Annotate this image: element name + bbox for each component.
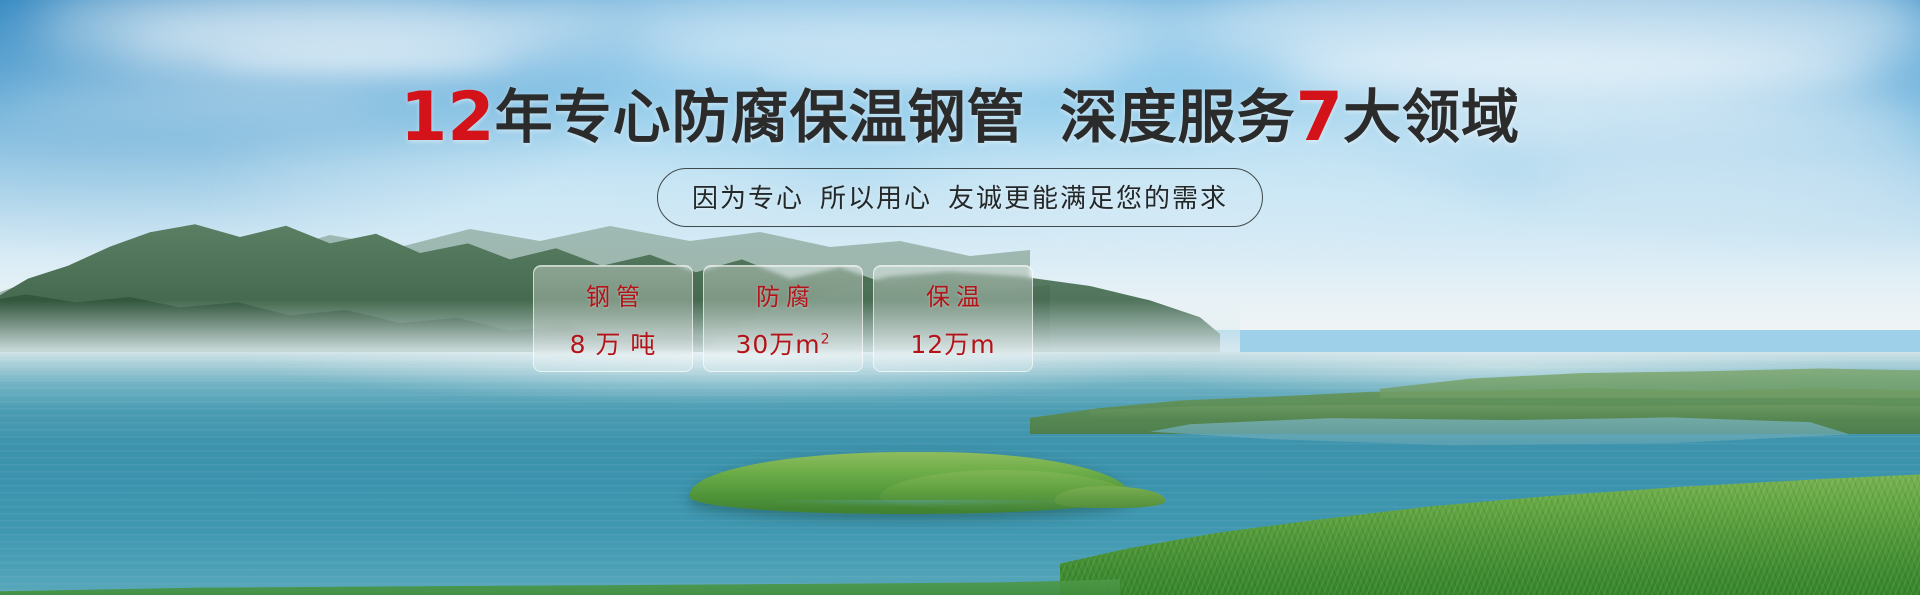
subtitle-segment-1: 因为专心 xyxy=(692,184,804,214)
fields-number: 7 xyxy=(1296,78,1343,157)
headline-part-3: 大领域 xyxy=(1343,83,1520,151)
stat-card-value: 12万m xyxy=(910,325,995,361)
cloud xyxy=(640,30,1160,64)
subtitle-segment-3: 友诚更能满足您的需求 xyxy=(948,184,1228,214)
stat-card-title: 防腐 xyxy=(750,277,816,312)
headline-part-1: 年专心防腐保温钢管 xyxy=(495,83,1026,151)
stat-card-group: 钢管 8 万 吨 防腐 30万m2 保温 12万m xyxy=(533,265,1033,372)
cloud xyxy=(210,52,510,70)
stat-card-anticorrosion: 防腐 30万m2 xyxy=(703,265,863,372)
stat-card-title: 钢管 xyxy=(580,277,646,312)
hero-banner: 12年专心防腐保温钢管深度服务7大领域 因为专心所以用心友诚更能满足您的需求 钢… xyxy=(0,0,1920,595)
years-number: 12 xyxy=(400,78,495,157)
stat-value-text: 12万m xyxy=(910,330,995,359)
subtitle-segment-2: 所以用心 xyxy=(820,184,932,214)
stat-card-title: 保温 xyxy=(920,277,986,312)
headline-part-2: 深度服务 xyxy=(1060,83,1296,151)
island-shoreline xyxy=(700,500,1130,518)
banner-headline: 12年专心防腐保温钢管深度服务7大领域 xyxy=(0,84,1920,152)
stat-card-value: 8 万 吨 xyxy=(570,325,657,361)
stat-value-text: 8 万 吨 xyxy=(570,330,657,359)
stat-value-text: 30万m xyxy=(735,330,820,359)
banner-subtitle-pill: 因为专心所以用心友诚更能满足您的需求 xyxy=(657,168,1263,227)
stat-value-superscript: 2 xyxy=(821,331,831,347)
stat-card-value: 30万m2 xyxy=(735,325,830,361)
stat-card-insulation: 保温 12万m xyxy=(873,265,1033,372)
cloud xyxy=(760,66,1120,80)
stat-card-steel-pipe: 钢管 8 万 吨 xyxy=(533,265,693,372)
